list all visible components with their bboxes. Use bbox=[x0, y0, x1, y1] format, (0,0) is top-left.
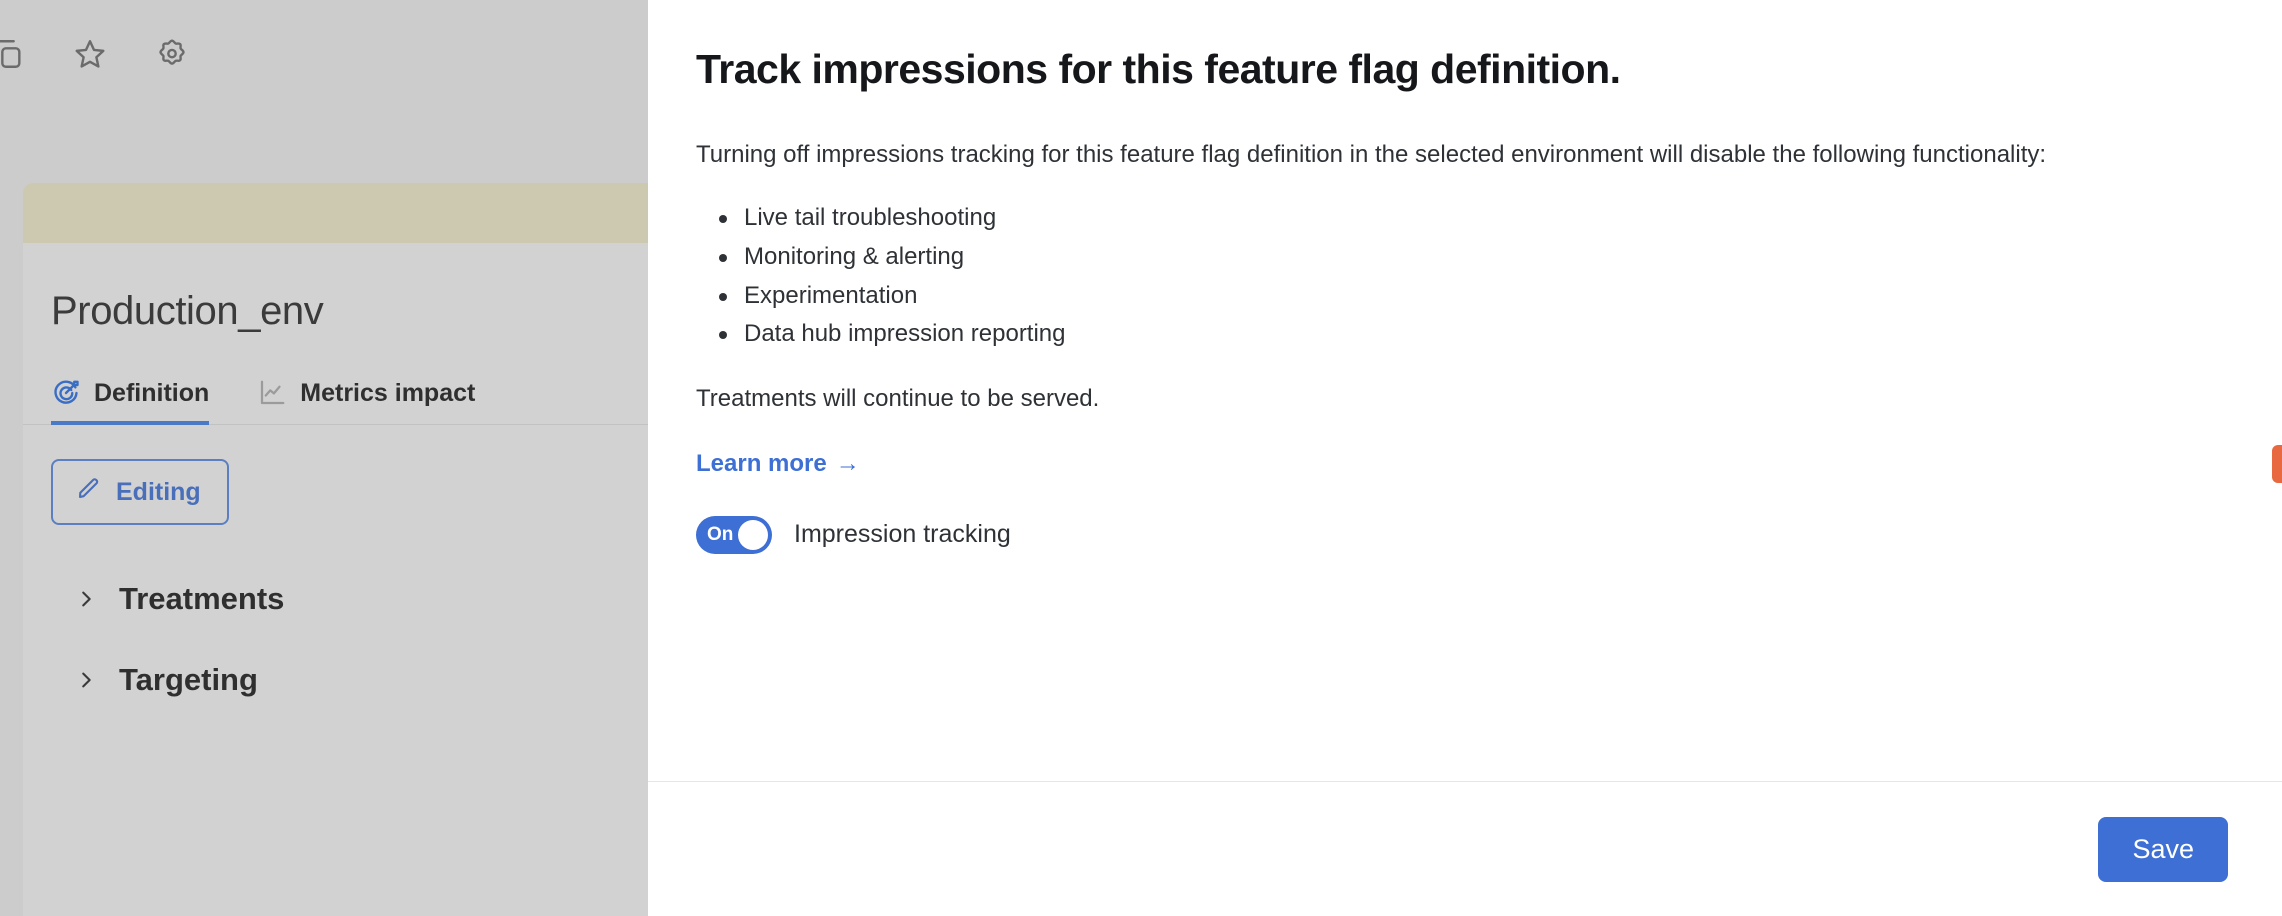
tab-definition-label: Definition bbox=[94, 379, 209, 408]
section-targeting[interactable]: Targeting bbox=[23, 662, 650, 698]
toggle-state-label: On bbox=[707, 525, 733, 544]
list-item: Experimentation bbox=[696, 281, 2230, 312]
section-treatments[interactable]: Treatments bbox=[23, 581, 650, 617]
editing-button-label: Editing bbox=[116, 478, 201, 507]
list-item: Monitoring & alerting bbox=[696, 242, 2230, 273]
editing-button-wrap: Editing bbox=[23, 425, 650, 525]
section-treatments-label: Treatments bbox=[119, 581, 284, 617]
modal-footer: Save bbox=[648, 781, 2282, 916]
card-banner bbox=[23, 183, 650, 243]
modal-heading: Track impressions for this feature flag … bbox=[696, 44, 2230, 94]
gear-icon[interactable] bbox=[150, 32, 194, 76]
page-title: Production_env bbox=[23, 243, 650, 334]
card-tabs: Definition Metrics impact bbox=[23, 334, 650, 425]
tab-definition[interactable]: Definition bbox=[51, 378, 209, 424]
chevron-right-icon bbox=[75, 588, 97, 610]
feedback-tab[interactable] bbox=[2272, 445, 2282, 483]
save-button[interactable]: Save bbox=[2098, 817, 2228, 882]
environment-card: Production_env Definition bbox=[23, 183, 650, 916]
duplicate-icon[interactable] bbox=[0, 32, 30, 76]
modal-body: Track impressions for this feature flag … bbox=[648, 0, 2282, 781]
pencil-icon bbox=[75, 475, 102, 509]
impression-tracking-row: On Impression tracking bbox=[696, 516, 2230, 554]
chevron-right-icon bbox=[75, 669, 97, 691]
list-item: Data hub impression reporting bbox=[696, 319, 2230, 350]
section-targeting-label: Targeting bbox=[119, 662, 258, 698]
tab-metrics-impact[interactable]: Metrics impact bbox=[257, 378, 475, 424]
app-toolbar bbox=[0, 0, 650, 108]
screen-root: Production_env Definition bbox=[0, 0, 2282, 916]
modal-description: Turning off impressions tracking for thi… bbox=[696, 136, 2196, 173]
background-app: Production_env Definition bbox=[0, 0, 650, 916]
line-chart-icon bbox=[257, 378, 287, 408]
list-item: Live tail troubleshooting bbox=[696, 203, 2230, 234]
disabled-functionality-list: Live tail troubleshooting Monitoring & a… bbox=[696, 203, 2230, 350]
learn-more-label: Learn more bbox=[696, 450, 827, 478]
toggle-knob bbox=[738, 520, 768, 550]
arrow-right-icon: → bbox=[836, 450, 860, 478]
impression-tracking-label: Impression tracking bbox=[794, 520, 1011, 549]
tab-metrics-impact-label: Metrics impact bbox=[300, 379, 475, 408]
editing-button[interactable]: Editing bbox=[51, 459, 229, 525]
impression-tracking-modal: Track impressions for this feature flag … bbox=[648, 0, 2282, 916]
treatments-note: Treatments will continue to be served. bbox=[696, 382, 2230, 416]
learn-more-link[interactable]: Learn more → bbox=[696, 450, 860, 478]
star-icon[interactable] bbox=[68, 32, 112, 76]
target-definition-icon bbox=[51, 378, 81, 408]
impression-tracking-toggle[interactable]: On bbox=[696, 516, 772, 554]
